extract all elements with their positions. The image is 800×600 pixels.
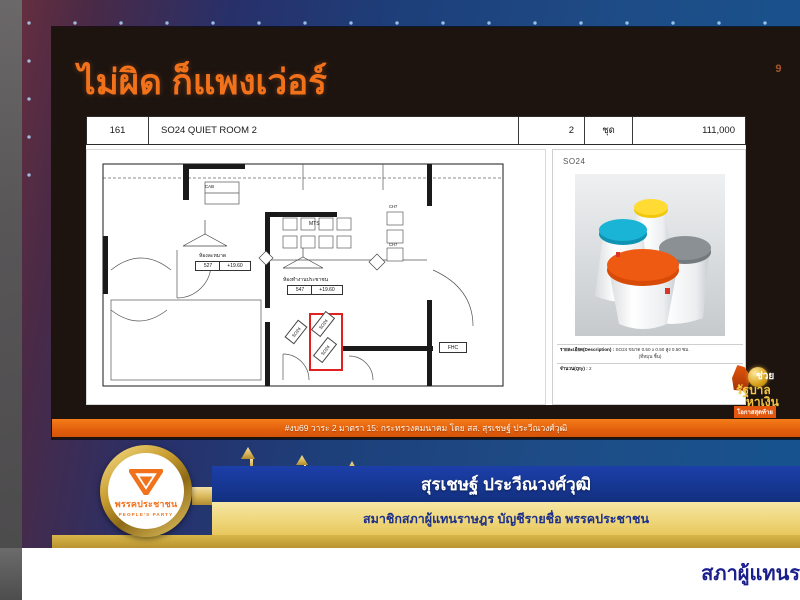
- product-description-note: (ที่หมุน ชิ้น): [560, 354, 740, 361]
- plan-room-level-1: +19.60: [219, 261, 251, 271]
- broadcast-stage: 9 ไม่ผิด ก็แพงเว่อร์ 161 SO24 QUIET ROOM…: [0, 0, 800, 600]
- plan-fhc-label: FHC: [439, 342, 467, 353]
- plan-grid-label: MTS: [309, 221, 320, 227]
- lower-third: สุรเชษฐ์ ประวีณวงศ์วุฒิ สมาชิกสภาผู้แทนร…: [52, 437, 800, 548]
- product-qty-row: จำนวน(Qty) : 2: [557, 363, 743, 375]
- bottom-bar: สภาผู้แทนร: [0, 548, 800, 600]
- budget-table-row: 161 SO24 QUIET ROOM 2 2 ชุด 111,000: [86, 116, 746, 145]
- product-detail-rows: รายละเอียด(Description) : SO24 ขนาด 0.50…: [557, 344, 743, 375]
- campaign-badge: ช่วย รัฐบาล หาเงิน โอกาสสุดท้าย: [730, 363, 798, 423]
- background-left-edge: [0, 0, 22, 548]
- gold-strip: [52, 535, 800, 548]
- bottom-bar-left-edge: [0, 548, 22, 600]
- cell-price: 111,000: [633, 117, 745, 144]
- speaker-role: สมาชิกสภาผู้แทนราษฎร บัญชีรายชื่อ พรรคปร…: [212, 502, 800, 535]
- bottom-bar-text: สภาผู้แทนร: [701, 557, 800, 589]
- product-code: SO24: [563, 157, 585, 166]
- badge-line-4: โอกาสสุดท้าย: [734, 406, 776, 418]
- slide-page-number: 9: [775, 63, 782, 75]
- stools-illustration: [575, 174, 725, 336]
- party-logo: พรรคประชาชน PEOPLE'S PARTY: [100, 445, 192, 537]
- cell-quantity: 2: [519, 117, 585, 144]
- product-qty-value: 2: [589, 366, 592, 371]
- cell-item-number: 161: [87, 117, 149, 144]
- plan-chair-tag-1: CH7: [270, 212, 278, 217]
- product-description-value: SO24 ขนาด 0.50 x 0.50 สูง 0.50 ซม.: [615, 347, 689, 352]
- speaker-name: สุรเชษฐ์ ประวีณวงศ์วุฒิ: [212, 466, 800, 502]
- product-qty-label: จำนวน(Qty) :: [560, 366, 588, 371]
- party-name-en: PEOPLE'S PARTY: [119, 512, 174, 517]
- plan-room-label-1: ห้องละหมาด: [199, 252, 226, 260]
- plan-chair-tag-2: CH7: [389, 204, 397, 209]
- slide-title: ไม่ผิด ก็แพงเว่อร์: [78, 63, 327, 103]
- floor-plan-drawing: ห้องละหมาด 527 +19.60 ห้องทำงานประชาชน 5…: [86, 149, 546, 405]
- cell-unit: ชุด: [585, 117, 633, 144]
- product-photo: [575, 174, 725, 336]
- plan-room-code-1: 527: [195, 261, 221, 271]
- news-ticker: #งบ69 วาระ 2 มาตรา 15: กระทรวงคมนาคม โดย…: [52, 419, 800, 437]
- document-sheet: 161 SO24 QUIET ROOM 2 2 ชุด 111,000: [86, 116, 746, 405]
- product-description-label: รายละเอียด(Description) :: [560, 347, 614, 352]
- product-spec-card: SO24: [552, 149, 746, 405]
- plan-room-level-2: +19.60: [311, 285, 343, 295]
- plan-cab-label: CAB: [205, 184, 214, 189]
- plan-chair-tag-3: CH7: [389, 242, 397, 247]
- ticker-text: #งบ69 วาระ 2 มาตรา 15: กระทรวงคมนาคม โดย…: [285, 421, 567, 435]
- party-logo-inner: พรรคประชาชน PEOPLE'S PARTY: [108, 453, 184, 529]
- party-name-th: พรรคประชาชน: [115, 497, 178, 511]
- cell-description: SO24 QUIET ROOM 2: [149, 117, 519, 144]
- product-description-row: รายละเอียด(Description) : SO24 ขนาด 0.50…: [557, 344, 743, 363]
- plan-room-code-2: 547: [287, 285, 313, 295]
- plan-room-label-2: ห้องทำงานประชาชน: [283, 276, 328, 284]
- presentation-slide: 9 ไม่ผิด ก็แพงเว่อร์ 161 SO24 QUIET ROOM…: [52, 27, 800, 439]
- party-mark-icon: [129, 469, 163, 495]
